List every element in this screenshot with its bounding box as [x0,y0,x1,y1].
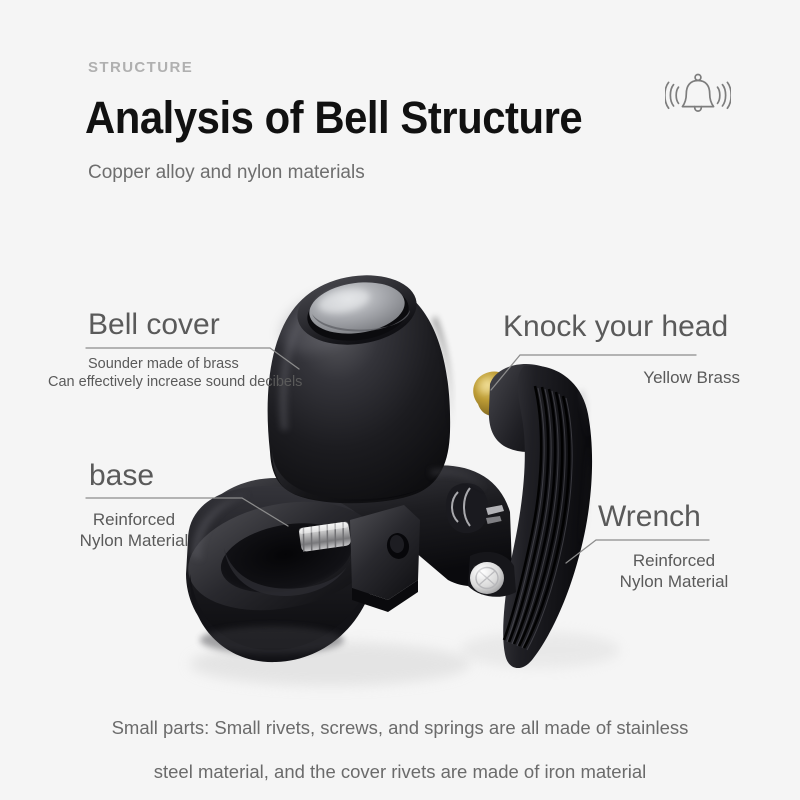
callout-sub-bell-cover-line1: Sounder made of brass [88,356,239,374]
callout-sub-base-line1: Reinforced [44,509,224,530]
infographic-canvas: STRUCTURE Analysis of Bell Structure Cop… [0,0,800,800]
callout-title-wrench: Wrench [598,502,701,532]
callout-sub-wrench-line1: Reinforced [594,550,754,571]
callout-title-bell-cover: Bell cover [88,310,220,340]
callout-title-knock-your-head: Knock your head [503,312,728,342]
callout-title-base: base [89,461,154,491]
callout-sub-wrench-line2: Nylon Material [594,571,754,592]
callout-sub-base-line2: Nylon Material [44,530,224,551]
callout-sub-knock-your-head-line1: Yellow Brass [496,367,740,388]
callout-leader-lines [0,0,800,800]
callout-sub-bell-cover-line2: Can effectively increase sound decibels [48,374,302,392]
bottom-caption-line1: Small parts: Small rivets, screws, and s… [0,706,800,750]
bottom-caption-line2: steel material, and the cover rivets are… [0,750,800,794]
bottom-caption: Small parts: Small rivets, screws, and s… [0,706,800,794]
